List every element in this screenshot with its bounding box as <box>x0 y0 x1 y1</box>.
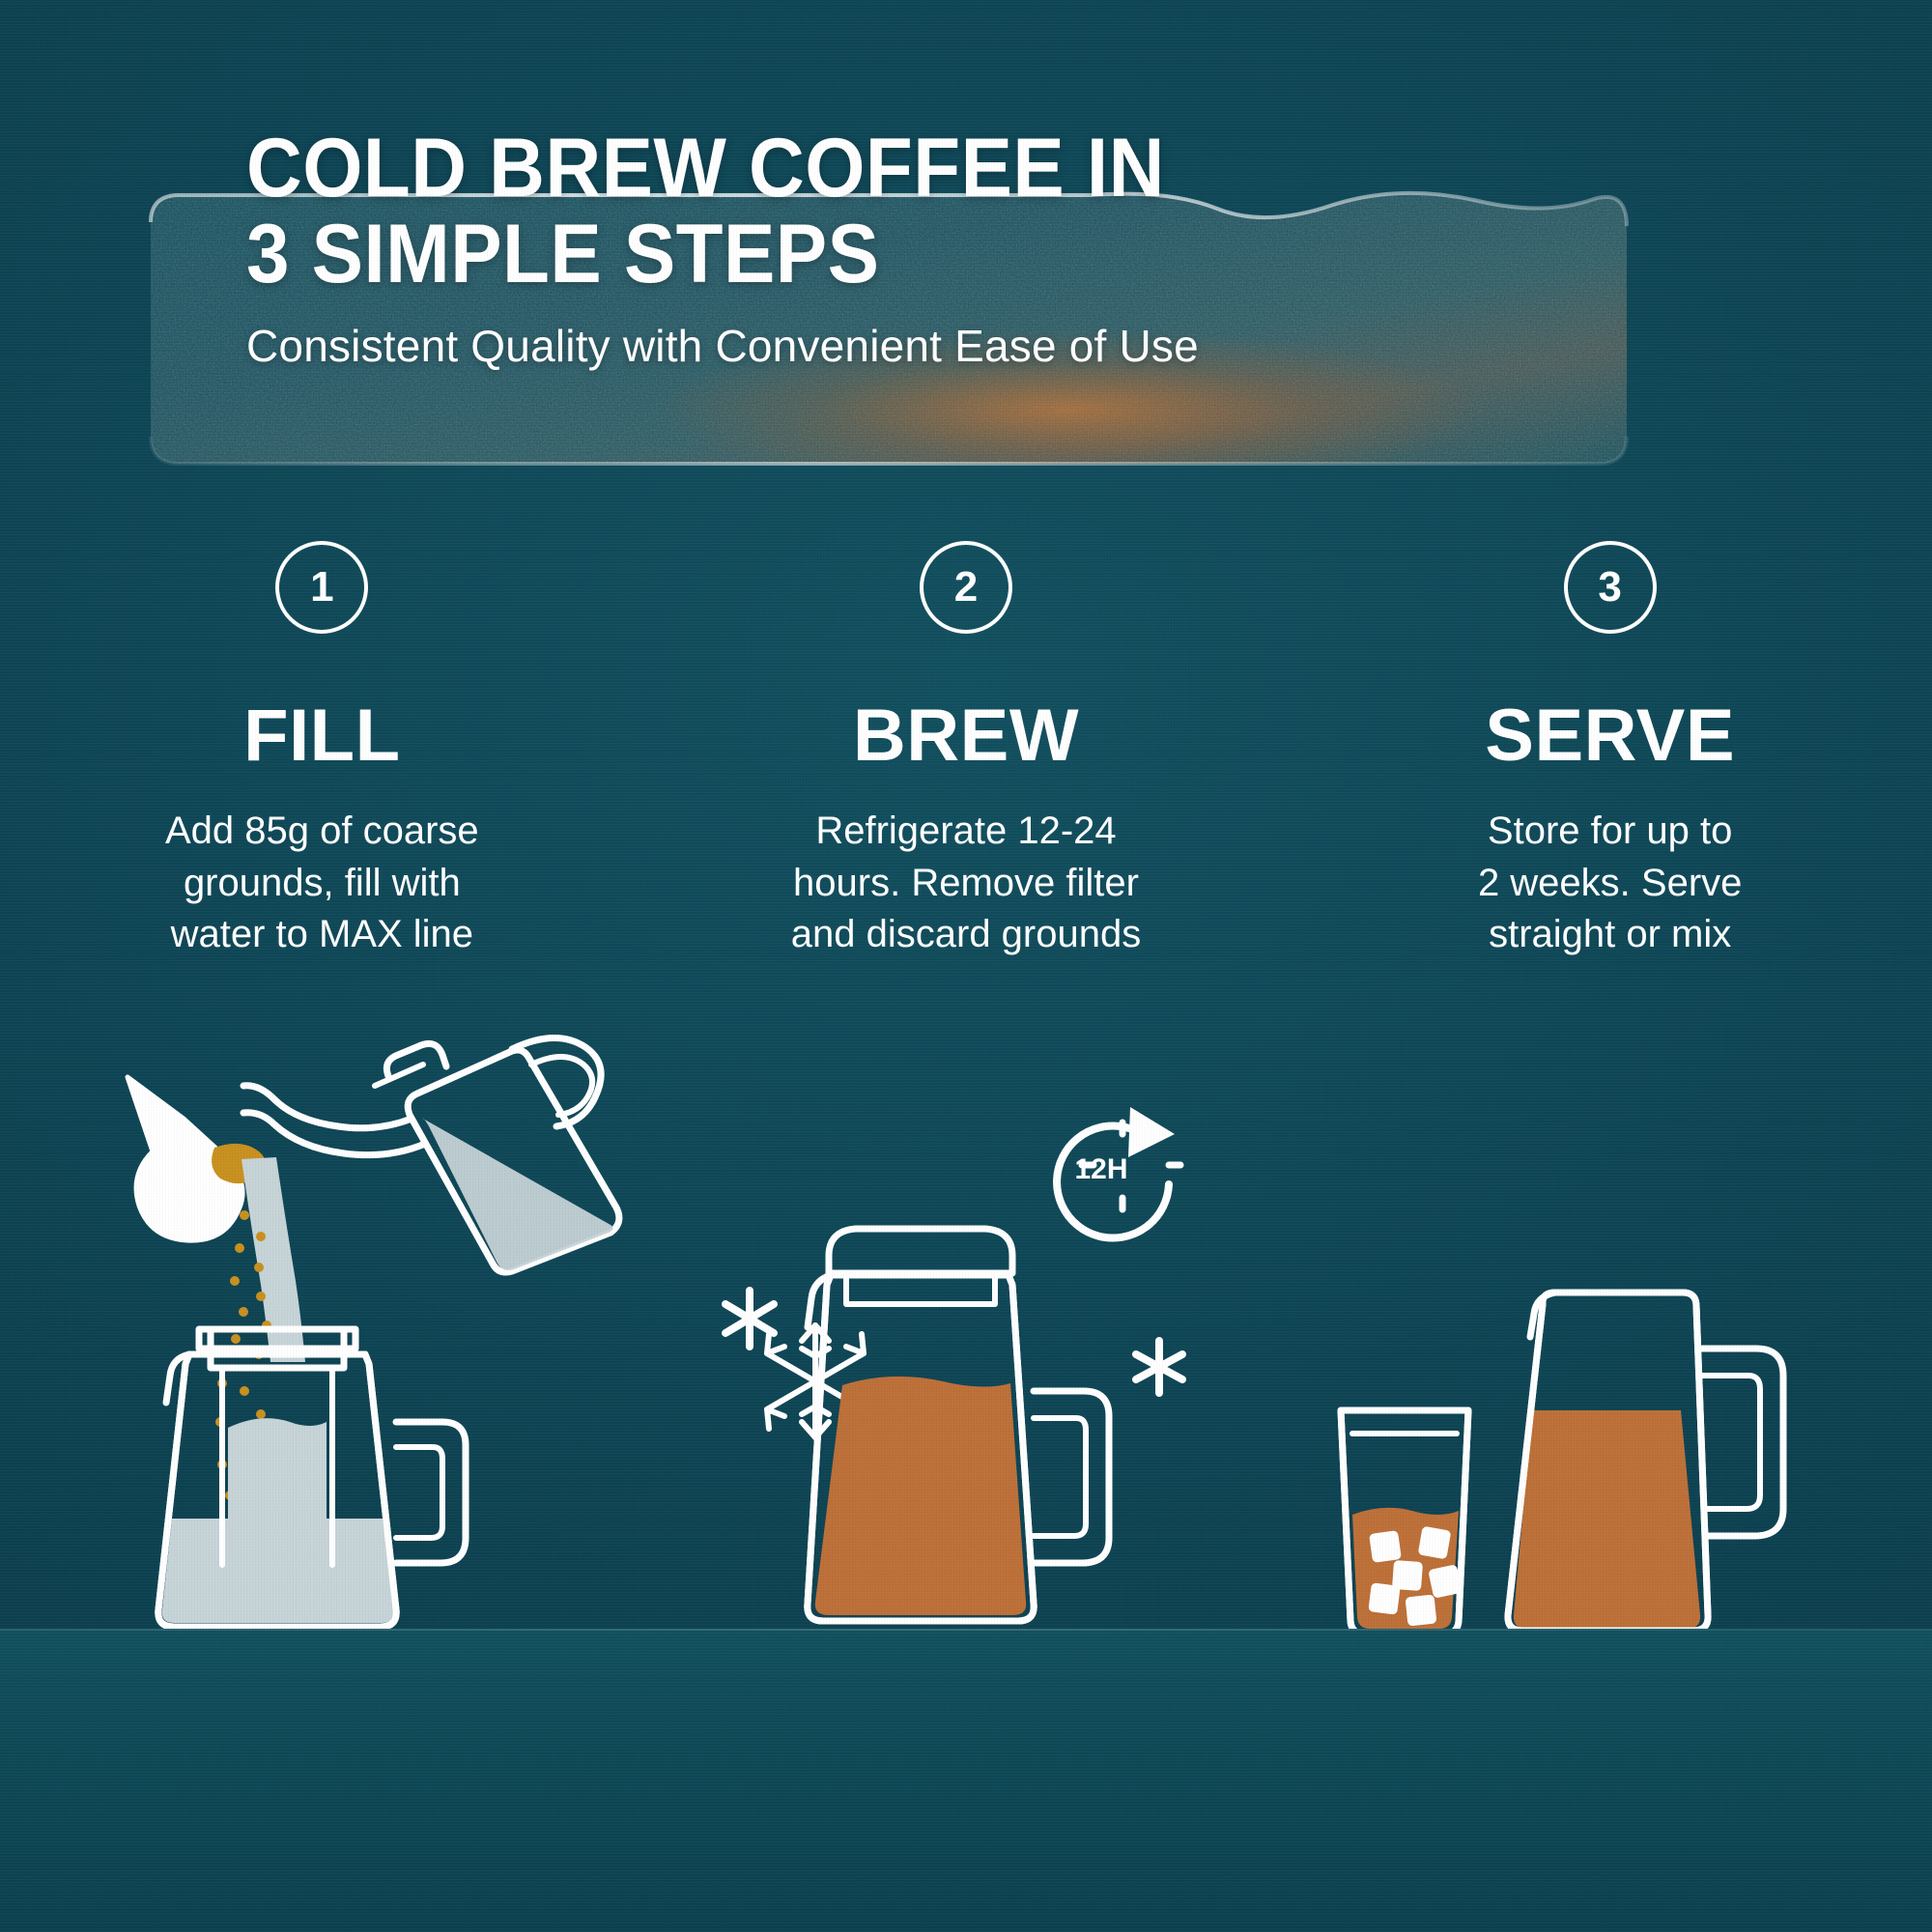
step-number-badge-1: 1 <box>275 541 368 634</box>
header-text-block: COLD BREW COFFEE IN 3 SIMPLE STEPS Consi… <box>246 126 1695 373</box>
illustration-step-2: 12H <box>715 1101 1217 1642</box>
pitcher-icon <box>808 1229 1109 1621</box>
page-subtitle: Consistent Quality with Convenient Ease … <box>246 320 1695 373</box>
step-title-1: FILL <box>243 699 400 773</box>
step-title-3: SERVE <box>1485 699 1735 773</box>
step-number-1: 1 <box>310 566 333 609</box>
step-body-3: Store for up to 2 weeks. Serve straight … <box>1478 806 1742 961</box>
step-2-brew: 2 BREW Refrigerate 12-24 hours. Remove f… <box>644 541 1289 961</box>
step-number-badge-3: 3 <box>1564 541 1657 634</box>
step-number-3: 3 <box>1598 566 1621 609</box>
step-number-2: 2 <box>954 566 978 609</box>
step-1-fill: 1 FILL Add 85g of coarse grounds, fill w… <box>0 541 644 961</box>
step-title-2: BREW <box>853 699 1079 773</box>
infographic-canvas: COLD BREW COFFEE IN 3 SIMPLE STEPS Consi… <box>0 0 1932 1932</box>
step-3-serve: 3 SERVE Store for up to 2 weeks. Serve s… <box>1288 541 1932 961</box>
step-body-1: Add 85g of coarse grounds, fill with wat… <box>165 806 479 961</box>
timer-label: 12H <box>1074 1153 1127 1185</box>
page-title: COLD BREW COFFEE IN 3 SIMPLE STEPS <box>246 126 1594 298</box>
iced-glass-icon <box>1341 1410 1468 1634</box>
step-number-badge-2: 2 <box>920 541 1012 634</box>
illustration-step-1 <box>106 1043 628 1642</box>
illustration-step-3 <box>1323 1256 1806 1642</box>
kettle-icon <box>243 1037 619 1272</box>
step-body-2: Refrigerate 12-24 hours. Remove filter a… <box>791 806 1141 961</box>
table-surface-edge <box>0 1629 1932 1631</box>
steps-row: 1 FILL Add 85g of coarse grounds, fill w… <box>0 541 1932 961</box>
table-surface-band <box>0 1629 1932 1932</box>
snowflake-right-icon <box>1136 1341 1182 1393</box>
pitcher-icon <box>1508 1293 1783 1631</box>
